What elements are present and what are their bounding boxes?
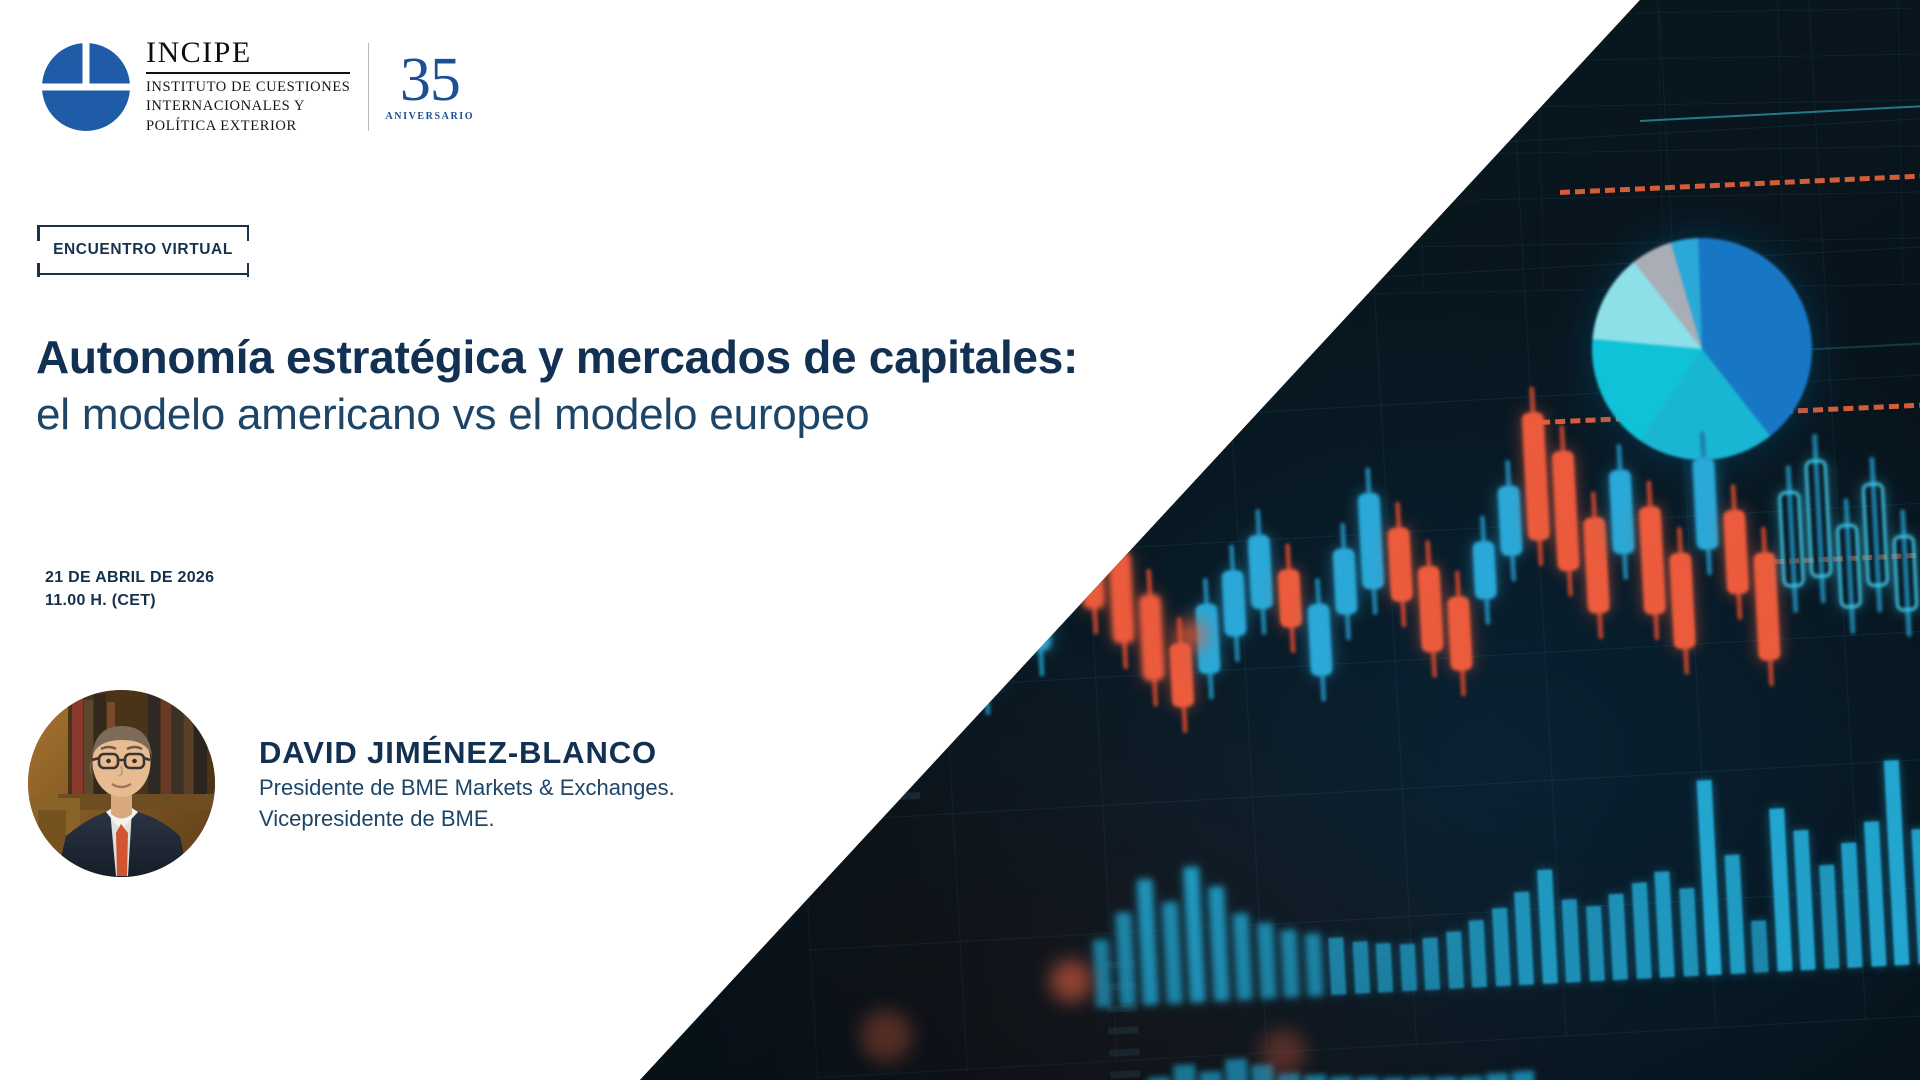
incipe-subtitle-line-2: INTERNACIONALES Y (146, 97, 350, 116)
candlestick-body (1639, 506, 1667, 615)
candlestick-body (1692, 457, 1719, 550)
poster-canvas: INCIPE INSTITUTO DE CUESTIONES INTERNACI… (0, 0, 1920, 1080)
candlestick-body (1048, 469, 1076, 590)
candlestick-wick (1055, 443, 1069, 615)
speaker-name: DAVID JIMÉNEZ-BLANCO (259, 734, 675, 771)
incipe-acronym: INCIPE (146, 38, 350, 68)
candlestick-body (1521, 412, 1550, 541)
candlestick-body (1221, 570, 1246, 637)
candlestick-body (1892, 535, 1918, 612)
candlestick-body (1497, 485, 1523, 556)
incipe-wordmark: INCIPE INSTITUTO DE CUESTIONES INTERNACI… (146, 38, 350, 136)
volume-bar (1608, 894, 1627, 980)
volume-bar (1631, 882, 1651, 979)
volume-bar (1911, 829, 1920, 965)
candlestick-body (1108, 551, 1135, 644)
candlestick-body (1332, 548, 1357, 615)
page-title-line-2: el modelo americano vs el modelo europeo (36, 390, 869, 440)
volume-bar-secondary (1330, 1076, 1353, 1080)
bokeh-dot-4 (1175, 620, 1205, 650)
candlestick-body (1753, 552, 1781, 661)
content-column: INCIPE INSTITUTO DE CUESTIONES INTERNACI… (0, 0, 1000, 1080)
candlestick-body (1169, 643, 1194, 708)
incipe-circle-cross-icon (40, 41, 132, 133)
event-time: 11.00 H. (CET) (45, 589, 214, 612)
candlestick-wick (1002, 506, 1015, 668)
candlestick-body (1723, 509, 1749, 594)
incipe-subtitle-line-1: INSTITUTO DE CUESTIONES (146, 78, 350, 97)
candlestick-wick (1085, 487, 1098, 635)
anniversary-label: ANIVERSARIO (385, 111, 474, 122)
candlestick-body (1357, 493, 1384, 590)
page-title-line-1: Autonomía estratégica y mercados de capi… (36, 330, 1078, 384)
volume-bar (1884, 760, 1910, 966)
volume-bar (1537, 869, 1558, 984)
candlestick-body (1778, 491, 1805, 588)
candlestick-body (1025, 572, 1051, 651)
event-type-badge-label: ENCUENTRO VIRTUAL (53, 241, 233, 259)
event-datetime: 21 DE ABRIL DE 2026 11.00 H. (CET) (45, 566, 214, 612)
candlestick-body (1609, 469, 1635, 554)
incipe-subtitle-line-3: POLÍTICA EXTERIOR (146, 117, 350, 136)
volume-bar-chart (1085, 733, 1920, 1008)
volume-bar (1841, 843, 1862, 968)
volume-bar (1208, 886, 1229, 1001)
volume-bar (1863, 821, 1886, 967)
volume-bar-secondary (1225, 1058, 1249, 1080)
volume-bar (1751, 920, 1769, 973)
speaker-role-line-2: Vicepresidente de BME. (259, 805, 675, 833)
volume-bar (1697, 780, 1722, 975)
bokeh-dot-1 (1050, 960, 1092, 1002)
volume-bar (1793, 830, 1815, 971)
event-date: 21 DE ABRIL DE 2026 (45, 566, 214, 589)
volume-bar-secondary (1148, 1077, 1172, 1080)
candlestick-body (1804, 459, 1832, 578)
candlestick-body (1472, 541, 1497, 600)
volume-bar-secondary (1486, 1073, 1509, 1080)
candlestick-body (1248, 534, 1274, 609)
volume-bar-secondary (1460, 1076, 1483, 1080)
candlestick-body (1387, 527, 1413, 602)
volume-bar-secondary (1304, 1075, 1327, 1080)
candlestick-body (1307, 603, 1333, 676)
volume-bar-secondary (1512, 1070, 1535, 1080)
volume-bar (1679, 888, 1699, 977)
volume-bar (1585, 906, 1604, 982)
anniversary-badge: 35 ANIVERSARIO (385, 52, 474, 122)
volume-bar (1562, 899, 1581, 983)
candlestick-body (1277, 569, 1302, 628)
volume-bar-secondary (1434, 1077, 1457, 1080)
volume-bar-secondary (1356, 1076, 1379, 1080)
candlestick-body (1138, 594, 1164, 681)
volume-bar (1137, 880, 1158, 1005)
candlestick-body (1836, 524, 1862, 609)
volume-bar-secondary (1200, 1071, 1224, 1080)
candlestick-body (1669, 552, 1696, 649)
volume-bar (1093, 939, 1112, 1007)
volume-bar-secondary (1173, 1065, 1197, 1080)
candlestick-wick (1032, 547, 1044, 677)
volume-bar (1769, 808, 1793, 972)
logo-rule (146, 72, 350, 74)
candlestick-body (1583, 517, 1610, 614)
volume-bar (1724, 854, 1745, 974)
candlestick-body (1417, 566, 1443, 653)
candlestick-body (1447, 596, 1473, 671)
avatar (28, 690, 215, 877)
speaker-role-line-1: Presidente de BME Markets & Exchanges. (259, 774, 675, 802)
event-type-badge: ENCUENTRO VIRTUAL (37, 225, 249, 275)
candlestick-body (1552, 450, 1580, 571)
speaker-details: DAVID JIMÉNEZ-BLANCO Presidente de BME M… (259, 734, 675, 834)
candlestick-body (1862, 482, 1889, 587)
bokeh-dot-3 (1260, 1030, 1306, 1076)
candlestick-body (1078, 512, 1105, 609)
volume-bar (1654, 871, 1675, 978)
volume-bar (1183, 867, 1205, 1003)
speaker-block: DAVID JIMÉNEZ-BLANCO Presidente de BME M… (28, 690, 675, 877)
logo-divider (368, 43, 369, 131)
anniversary-number: 35 (385, 52, 474, 109)
volume-bar (1819, 865, 1839, 969)
incipe-logo-lockup: INCIPE INSTITUTO DE CUESTIONES INTERNACI… (40, 38, 474, 136)
